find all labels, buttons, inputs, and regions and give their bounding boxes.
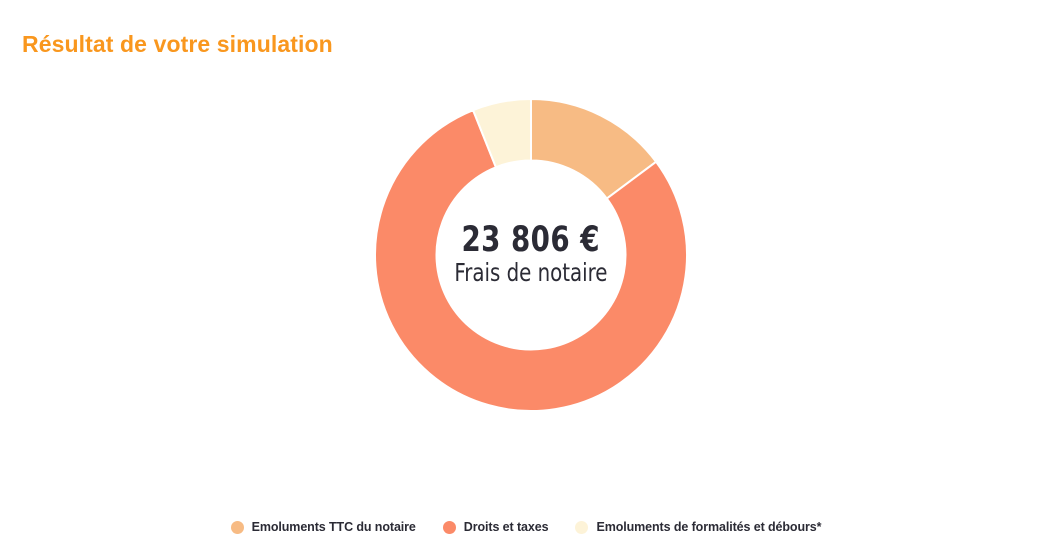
donut-chart-area: 23 806 € Frais de notaire Emoluments TTC… — [0, 78, 1052, 428]
donut-chart-svg — [373, 97, 689, 413]
legend-swatch-icon-0 — [231, 521, 244, 534]
legend-swatch-icon-1 — [443, 521, 456, 534]
chart-legend: Emoluments TTC du notaireDroits et taxes… — [0, 520, 1052, 534]
simulation-result-panel: Résultat de votre simulation 23 806 € Fr… — [0, 0, 1052, 502]
donut-chart — [373, 97, 689, 413]
legend-item-0[interactable]: Emoluments TTC du notaire — [231, 520, 416, 534]
legend-item-label: Droits et taxes — [464, 520, 549, 534]
legend-item-1[interactable]: Droits et taxes — [443, 520, 549, 534]
legend-item-label: Emoluments de formalités et débours* — [596, 520, 821, 534]
page-title: Résultat de votre simulation — [22, 31, 333, 58]
legend-item-2[interactable]: Emoluments de formalités et débours* — [575, 520, 821, 534]
legend-swatch-icon-2 — [575, 521, 588, 534]
legend-item-label: Emoluments TTC du notaire — [252, 520, 416, 534]
